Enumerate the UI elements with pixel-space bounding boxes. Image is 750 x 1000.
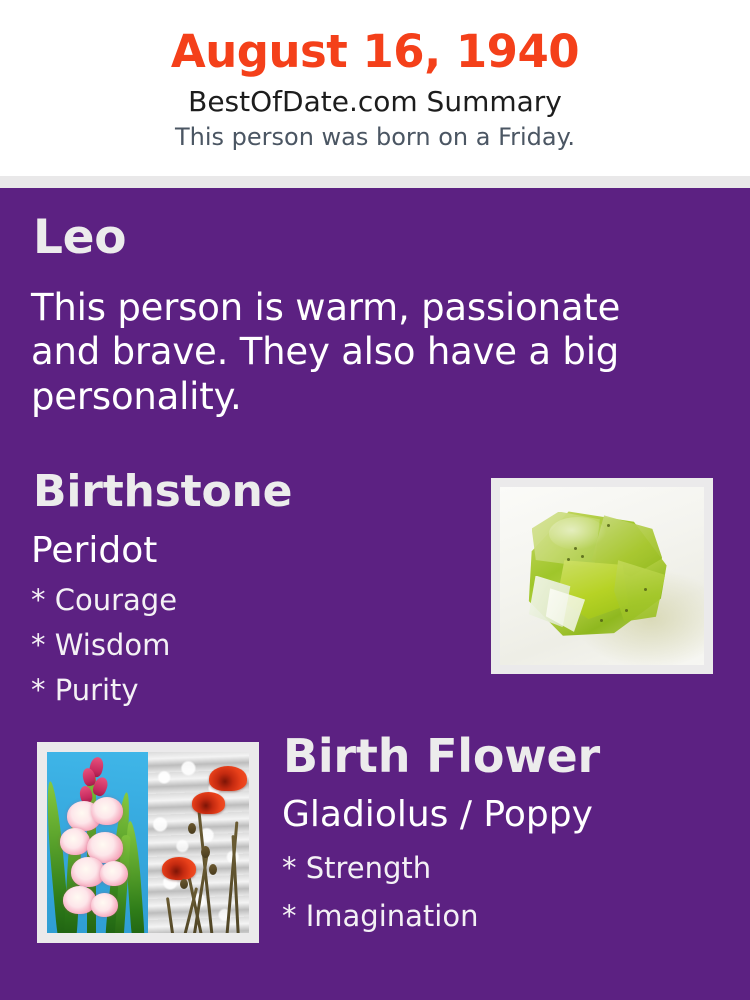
peridot-gem-icon [526,509,668,637]
birth-flower-image [47,752,249,933]
list-item: * Imagination [282,902,478,931]
header-divider [0,176,750,188]
zodiac-sign-name: Leo [33,214,126,261]
bestofdate-summary-card: August 16, 1940 BestOfDate.com Summary T… [0,0,750,1000]
poppy-photo-pane [148,752,249,933]
list-item: * Courage [31,586,177,615]
birthstone-name: Peridot [31,533,157,569]
card-header: August 16, 1940 BestOfDate.com Summary T… [0,0,750,176]
summary-panel: Leo This person is warm, passionate and … [0,188,750,1000]
birthstone-heading: Birthstone [33,470,292,514]
birth-flower-image-frame [37,742,259,943]
birth-flower-name: Gladiolus / Poppy [282,797,593,833]
birthstone-trait-list: * Courage * Wisdom * Purity [31,586,177,721]
birth-flower-heading: Birth Flower [283,733,600,779]
list-item: * Purity [31,676,177,705]
birthstone-image [500,487,704,665]
weekday-statement: This person was born on a Friday. [0,118,750,152]
birthstone-image-frame [491,478,713,674]
site-summary-subtitle: BestOfDate.com Summary [0,77,750,118]
list-item: * Wisdom [31,631,177,660]
birth-flower-trait-list: * Strength * Imagination [282,854,478,950]
zodiac-description: This person is warm, passionate and brav… [31,286,691,419]
page-title-date: August 16, 1940 [0,0,750,77]
gladiolus-photo-pane [47,752,148,933]
list-item: * Strength [282,854,478,883]
